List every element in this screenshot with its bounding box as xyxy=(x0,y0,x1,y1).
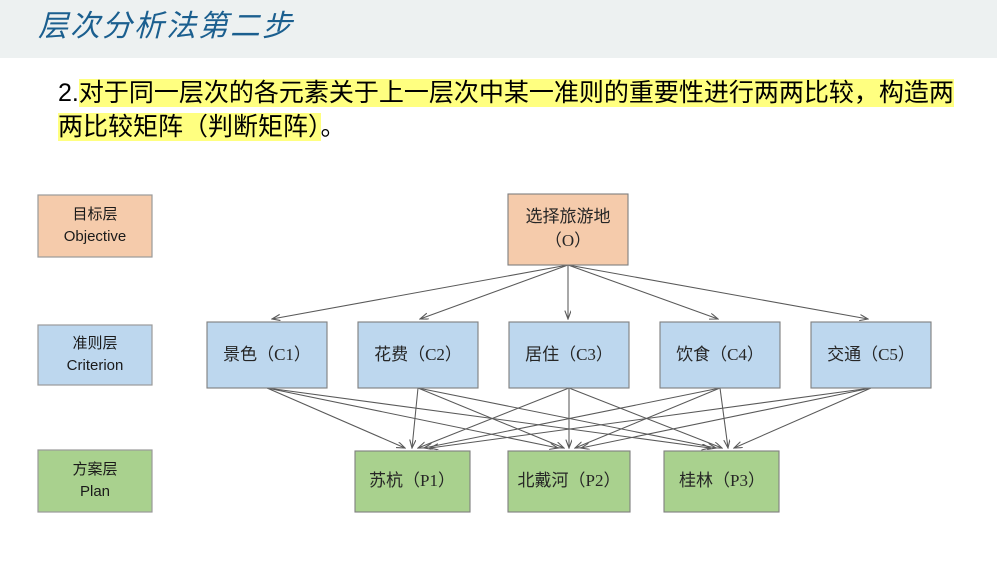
body-trailing-text: 。 xyxy=(321,113,346,141)
legend-criterion-cn: 准则层 xyxy=(72,335,117,352)
node-plan-p3: 桂林（P3） xyxy=(664,451,779,512)
node-criterion-c5-label: 交通（C5） xyxy=(827,345,915,364)
node-criterion-c2: 花费（C2） xyxy=(358,322,478,388)
legend-plan: 方案层 Plan xyxy=(38,450,152,512)
node-criterion-c2-label: 花费（C2） xyxy=(374,345,462,364)
body-paragraph: 2.对于同一层次的各元素关于上一层次中某一准则的重要性进行两两比较，构造两两比较… xyxy=(58,76,958,144)
legend-plan-cn: 方案层 xyxy=(72,460,117,478)
node-criterion-c3: 居住（C3） xyxy=(509,322,629,388)
node-criterion-c3-label: 居住（C3） xyxy=(525,345,613,364)
node-plan-p3-label: 桂林（P3） xyxy=(679,471,765,490)
legend-objective: 目标层 Objective xyxy=(38,195,152,257)
node-criterion-c1-label: 景色（C1） xyxy=(223,345,311,364)
node-plan-p2-label: 北戴河（P2） xyxy=(518,471,621,490)
node-criterion-c5: 交通（C5） xyxy=(811,322,931,388)
page-title: 层次分析法第二步 xyxy=(38,3,294,51)
node-objective-line2: （O） xyxy=(545,231,591,250)
node-plan-p2: 北戴河（P2） xyxy=(508,451,630,512)
node-criterion-c4-label: 饮食（C4） xyxy=(676,345,764,364)
node-objective: 选择旅游地 （O） xyxy=(508,194,628,265)
node-criterion-c4: 饮食（C4） xyxy=(660,322,780,388)
node-objective-line1: 选择旅游地 xyxy=(526,207,611,226)
edges-criteria-to-plans xyxy=(267,388,871,448)
legend-objective-cn: 目标层 xyxy=(72,206,117,223)
legend-objective-en: Objective xyxy=(64,228,127,245)
node-plan-p1-label: 苏杭（P1） xyxy=(369,471,455,490)
legend-criterion: 准则层 Criterion xyxy=(38,325,152,385)
legend-plan-en: Plan xyxy=(80,483,110,500)
node-plan-p1: 苏杭（P1） xyxy=(355,451,470,512)
legend-criterion-en: Criterion xyxy=(67,357,124,374)
body-highlighted-text: 对于同一层次的各元素关于上一层次中某一准则的重要性进行两两比较，构造两两比较矩阵… xyxy=(58,79,954,141)
node-criterion-c1: 景色（C1） xyxy=(207,322,327,388)
body-list-number: 2. xyxy=(58,79,79,107)
edges-objective-to-criteria xyxy=(272,265,868,319)
ahp-hierarchy-diagram: 目标层 Objective 准则层 Criterion 方案层 Plan 选择旅… xyxy=(0,170,997,550)
